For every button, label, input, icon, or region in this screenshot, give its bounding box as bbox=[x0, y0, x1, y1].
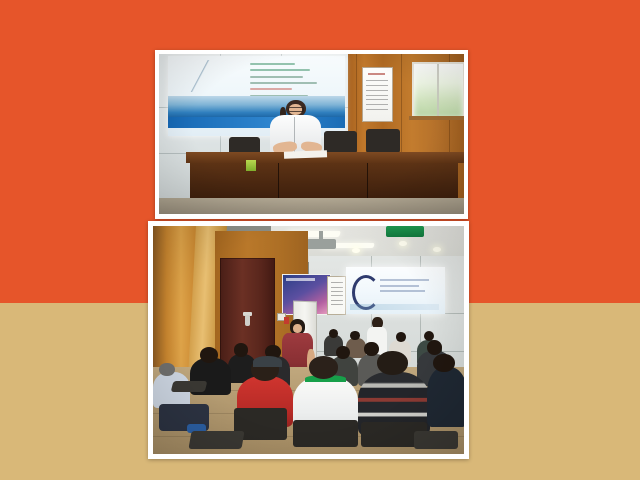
wall-notice-poster bbox=[362, 67, 393, 122]
audience-head bbox=[364, 342, 378, 356]
photo-image-lecturer bbox=[159, 54, 464, 214]
slide-diagram bbox=[172, 60, 232, 92]
chair bbox=[324, 131, 358, 153]
screen-footer-band bbox=[350, 304, 440, 311]
eyeglasses-icon bbox=[288, 107, 304, 112]
audience-head bbox=[159, 363, 175, 377]
chair-seat bbox=[170, 381, 207, 392]
chair-seat bbox=[189, 431, 245, 449]
papers-on-table bbox=[284, 150, 327, 159]
audience-head bbox=[350, 331, 359, 340]
audience-head bbox=[309, 356, 339, 379]
small-poster bbox=[284, 317, 290, 324]
audience-member bbox=[427, 367, 464, 426]
audience-head bbox=[200, 347, 219, 363]
downlight bbox=[399, 241, 407, 246]
chair bbox=[293, 420, 358, 447]
exit-sign-icon bbox=[386, 226, 423, 236]
door-handle[interactable] bbox=[245, 315, 250, 326]
audience-head bbox=[234, 343, 248, 357]
projector bbox=[305, 239, 336, 249]
audience-head bbox=[433, 354, 455, 372]
green-label bbox=[246, 160, 256, 171]
projection-screen bbox=[346, 267, 446, 314]
photo-image-audience bbox=[153, 226, 464, 454]
conference-table-front bbox=[190, 163, 458, 201]
audience-head bbox=[377, 351, 408, 375]
photo-frame-bottom bbox=[148, 221, 469, 459]
floor bbox=[159, 198, 464, 214]
audience-head bbox=[329, 329, 338, 338]
chair bbox=[366, 129, 400, 153]
wall-notice bbox=[327, 276, 346, 314]
chair-seat bbox=[414, 431, 458, 449]
audience-head bbox=[396, 332, 406, 342]
banner-header-strip bbox=[286, 278, 315, 281]
photo-frame-top bbox=[155, 50, 468, 219]
collage-canvas bbox=[0, 0, 640, 480]
cap-icon bbox=[253, 356, 283, 367]
window-sill bbox=[409, 116, 464, 121]
audience-head bbox=[427, 340, 443, 355]
window bbox=[412, 62, 464, 120]
downlight bbox=[433, 247, 441, 252]
slide-photo-band bbox=[168, 96, 345, 118]
